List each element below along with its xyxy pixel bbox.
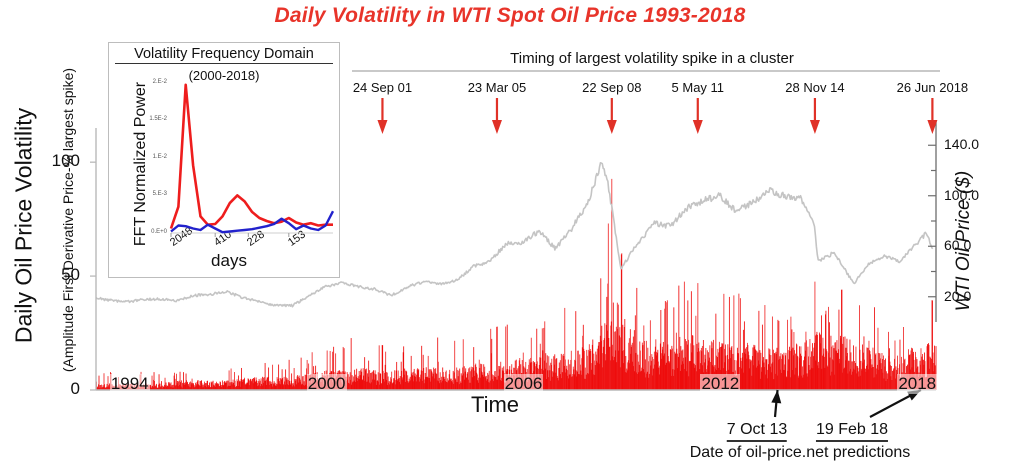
y-axis-right-ticks bbox=[928, 145, 936, 297]
x-axis-tick-2006: 2006 bbox=[504, 374, 544, 394]
y-axis-left-subtitle: (Amplitude First Derivative Price-% larg… bbox=[60, 20, 76, 420]
x-axis-title: Time bbox=[330, 392, 660, 418]
y-axis-right-tick-100-0: 100.0 bbox=[944, 187, 1004, 203]
y-axis-right-tick-60-0: 60.0 bbox=[944, 237, 1004, 253]
prediction-date-0: 7 Oct 13 bbox=[727, 421, 787, 442]
x-axis-tick-2000: 2000 bbox=[307, 374, 347, 394]
cluster-date-3: 5 May 11 bbox=[672, 80, 725, 95]
cluster-date-0: 24 Sep 01 bbox=[353, 80, 412, 95]
y-axis-left-title: Daily Oil Price Volatility bbox=[11, 26, 38, 426]
cluster-annotation-rule bbox=[352, 70, 940, 72]
inset-tick-marks bbox=[171, 233, 289, 237]
x-axis-tick-2012: 2012 bbox=[700, 374, 740, 394]
prediction-date-1: 19 Feb 18 bbox=[816, 421, 888, 442]
inset-series-red bbox=[171, 85, 333, 229]
y-axis-left-tick-100: 100 bbox=[20, 151, 80, 171]
cluster-date-1: 23 Mar 05 bbox=[468, 80, 527, 95]
y-axis-left-tick-0: 0 bbox=[20, 379, 80, 399]
y-axis-right-tick-20-0: 20.0 bbox=[944, 288, 1004, 304]
prediction-caption: Date of oil-price.net predictions bbox=[600, 444, 1000, 462]
cluster-annotation-header: Timing of largest volatility spike in a … bbox=[352, 50, 952, 67]
inset-series-blue bbox=[171, 211, 333, 232]
inset-canvas bbox=[109, 43, 341, 279]
inset-frequency-domain-chart: Volatility Frequency Domain (2000-2018) … bbox=[108, 42, 340, 278]
y-axis-left-tick-50: 50 bbox=[20, 265, 80, 285]
cluster-arrow-markers bbox=[377, 98, 937, 134]
y-axis-left-ticks bbox=[90, 162, 96, 390]
prediction-arrow-markers bbox=[771, 390, 921, 417]
x-axis-tick-1994: 1994 bbox=[110, 374, 150, 394]
x-axis-tick-2018: 2018 bbox=[897, 374, 937, 394]
cluster-date-2: 22 Sep 08 bbox=[582, 80, 641, 95]
y-axis-right-tick-140-0: 140.0 bbox=[944, 136, 1004, 152]
cluster-date-5: 26 Jun 2018 bbox=[897, 80, 969, 95]
cluster-date-4: 28 Nov 14 bbox=[785, 80, 844, 95]
